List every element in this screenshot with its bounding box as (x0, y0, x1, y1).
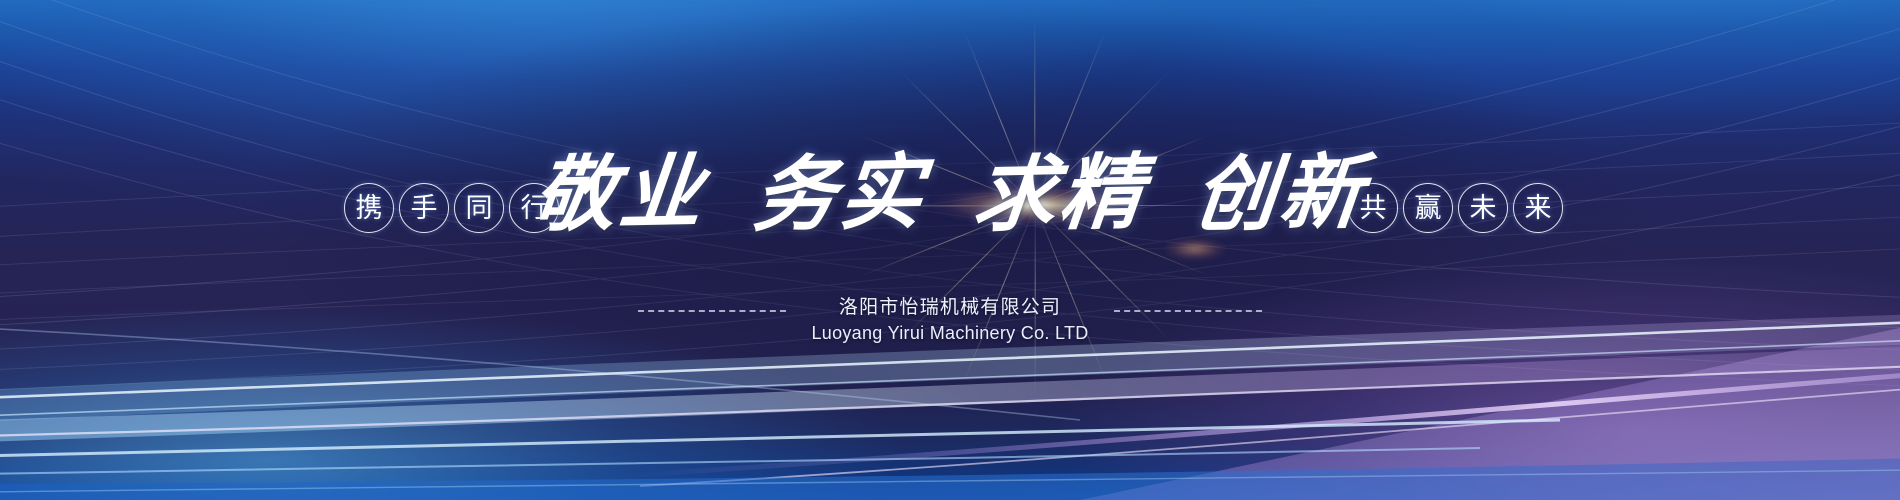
company-name-block: 洛阳市怡瑞机械有限公司 Luoyang Yirui Machinery Co. … (0, 296, 1900, 344)
company-name-cn: 洛阳市怡瑞机械有限公司 (0, 296, 1900, 318)
slogan-word: 创新 (1190, 151, 1371, 237)
company-name-en: Luoyang Yirui Machinery Co. LTD (0, 322, 1900, 344)
calligraphy-slogan: 敬业 务实 求精 创新 (0, 138, 1900, 250)
slogan-word: 敬业 (530, 151, 711, 237)
banner-content: 携 手 同 行 共 赢 未 来 (0, 0, 1900, 500)
company-banner: 携 手 同 行 共 赢 未 来 (0, 0, 1900, 500)
slogan-word: 务实 (750, 151, 931, 237)
slogan-word: 求精 (970, 151, 1151, 237)
